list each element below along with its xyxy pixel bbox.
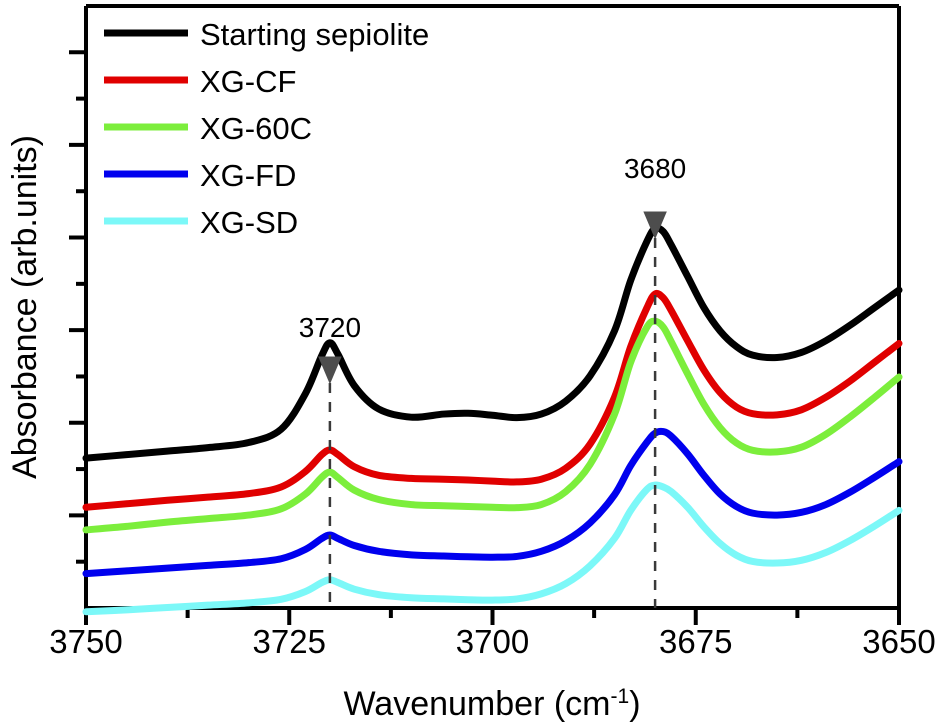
legend-label-xg-fd: XG-FD xyxy=(200,158,296,193)
legend-label-xg-cf: XG-CF xyxy=(200,64,296,99)
legend-label-starting-sepiolite: Starting sepiolite xyxy=(200,17,429,52)
ftir-absorbance-chart: 37503725370036753650 37203680 Starting s… xyxy=(0,0,940,728)
x-tick-label: 3725 xyxy=(253,623,326,660)
x-tick-label: 3700 xyxy=(456,623,529,660)
x-tick-label: 3675 xyxy=(659,623,732,660)
legend-label-xg-60c: XG-60C xyxy=(200,111,312,146)
chart-figure: 37503725370036753650 37203680 Starting s… xyxy=(0,0,940,728)
x-tick-label: 3750 xyxy=(49,623,122,660)
legend-label-xg-sd: XG-SD xyxy=(200,205,298,240)
figure-background xyxy=(0,0,940,728)
y-axis-title: Absorbance (arb.units) xyxy=(6,135,44,479)
x-axis-title: Wavenumber (cm-1) xyxy=(343,685,640,723)
x-tick-label: 3650 xyxy=(862,623,935,660)
annotation-label: 3720 xyxy=(299,312,361,343)
annotation-label: 3680 xyxy=(624,153,686,184)
